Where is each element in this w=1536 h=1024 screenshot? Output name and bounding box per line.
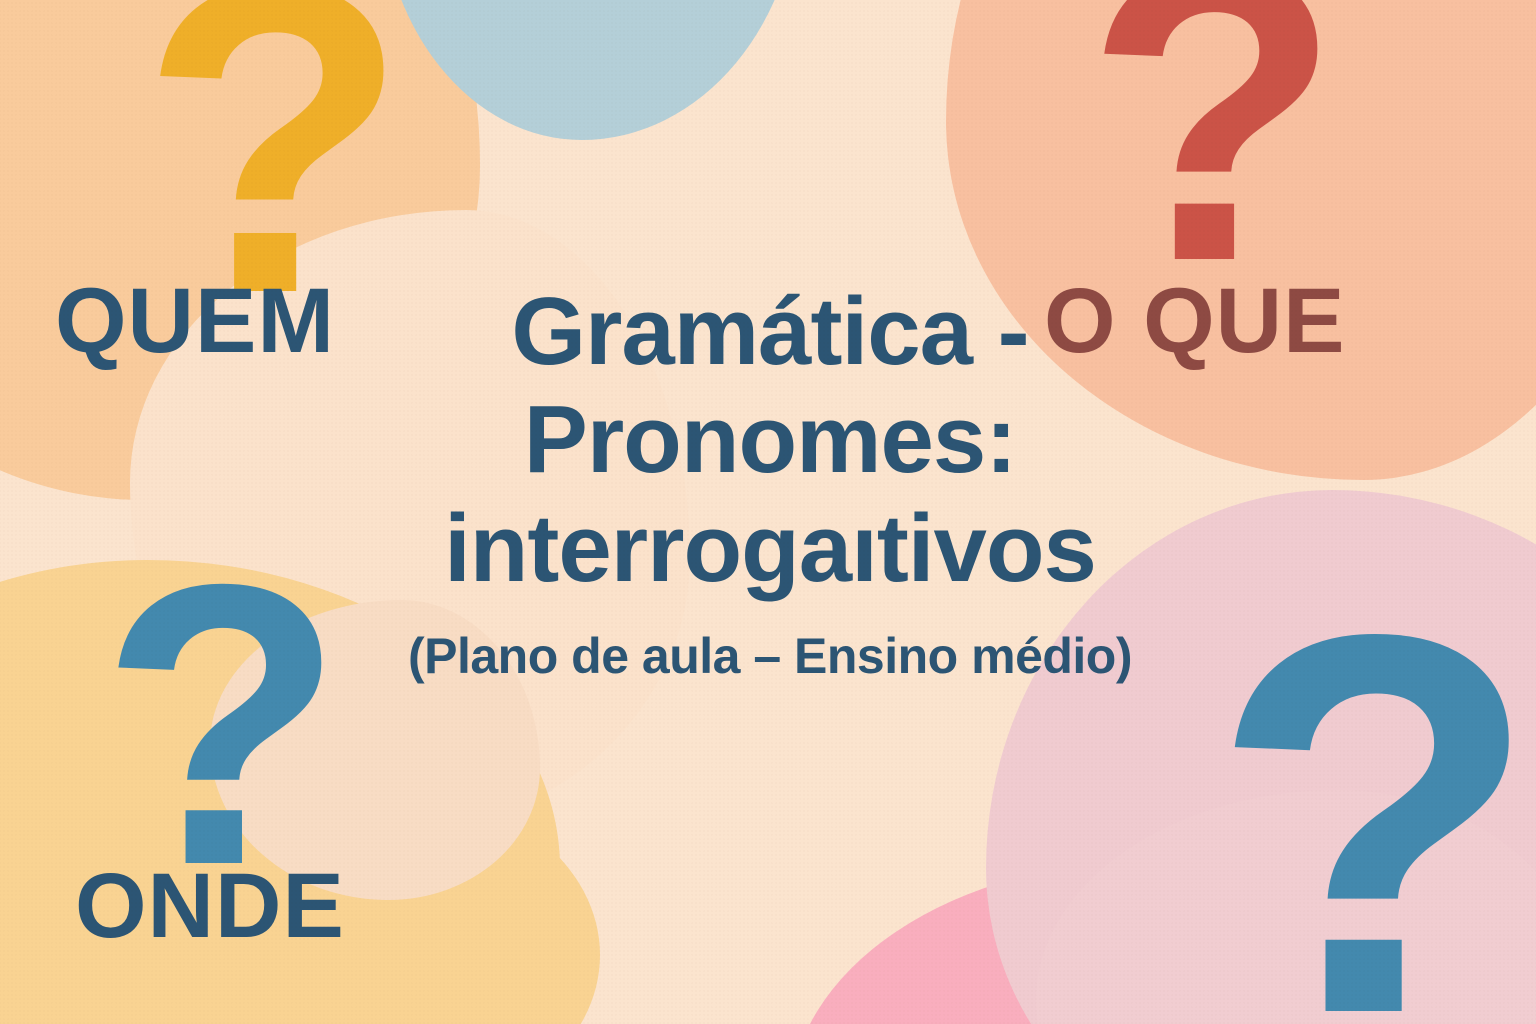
label-onde: ONDE [75,860,345,952]
title-block: Gramática - Pronomes: interrogaıtivos (P… [340,278,1200,684]
page-subtitle: (Plano de aula – Ensino médio) [340,629,1200,684]
question-mark-icon-blue-right: ? [1210,555,1536,1024]
poster-canvas: ? ? ? ? QUEM O QUE ONDE Gramática - Pron… [0,0,1536,1024]
blob-top-center-blue [380,0,800,140]
label-quem: QUEM [55,275,335,367]
page-title-line-3: interrogaıtivos [340,495,1200,603]
page-title-line-2: Pronomes: [340,386,1200,494]
page-title-line-1: Gramática - [340,278,1200,386]
